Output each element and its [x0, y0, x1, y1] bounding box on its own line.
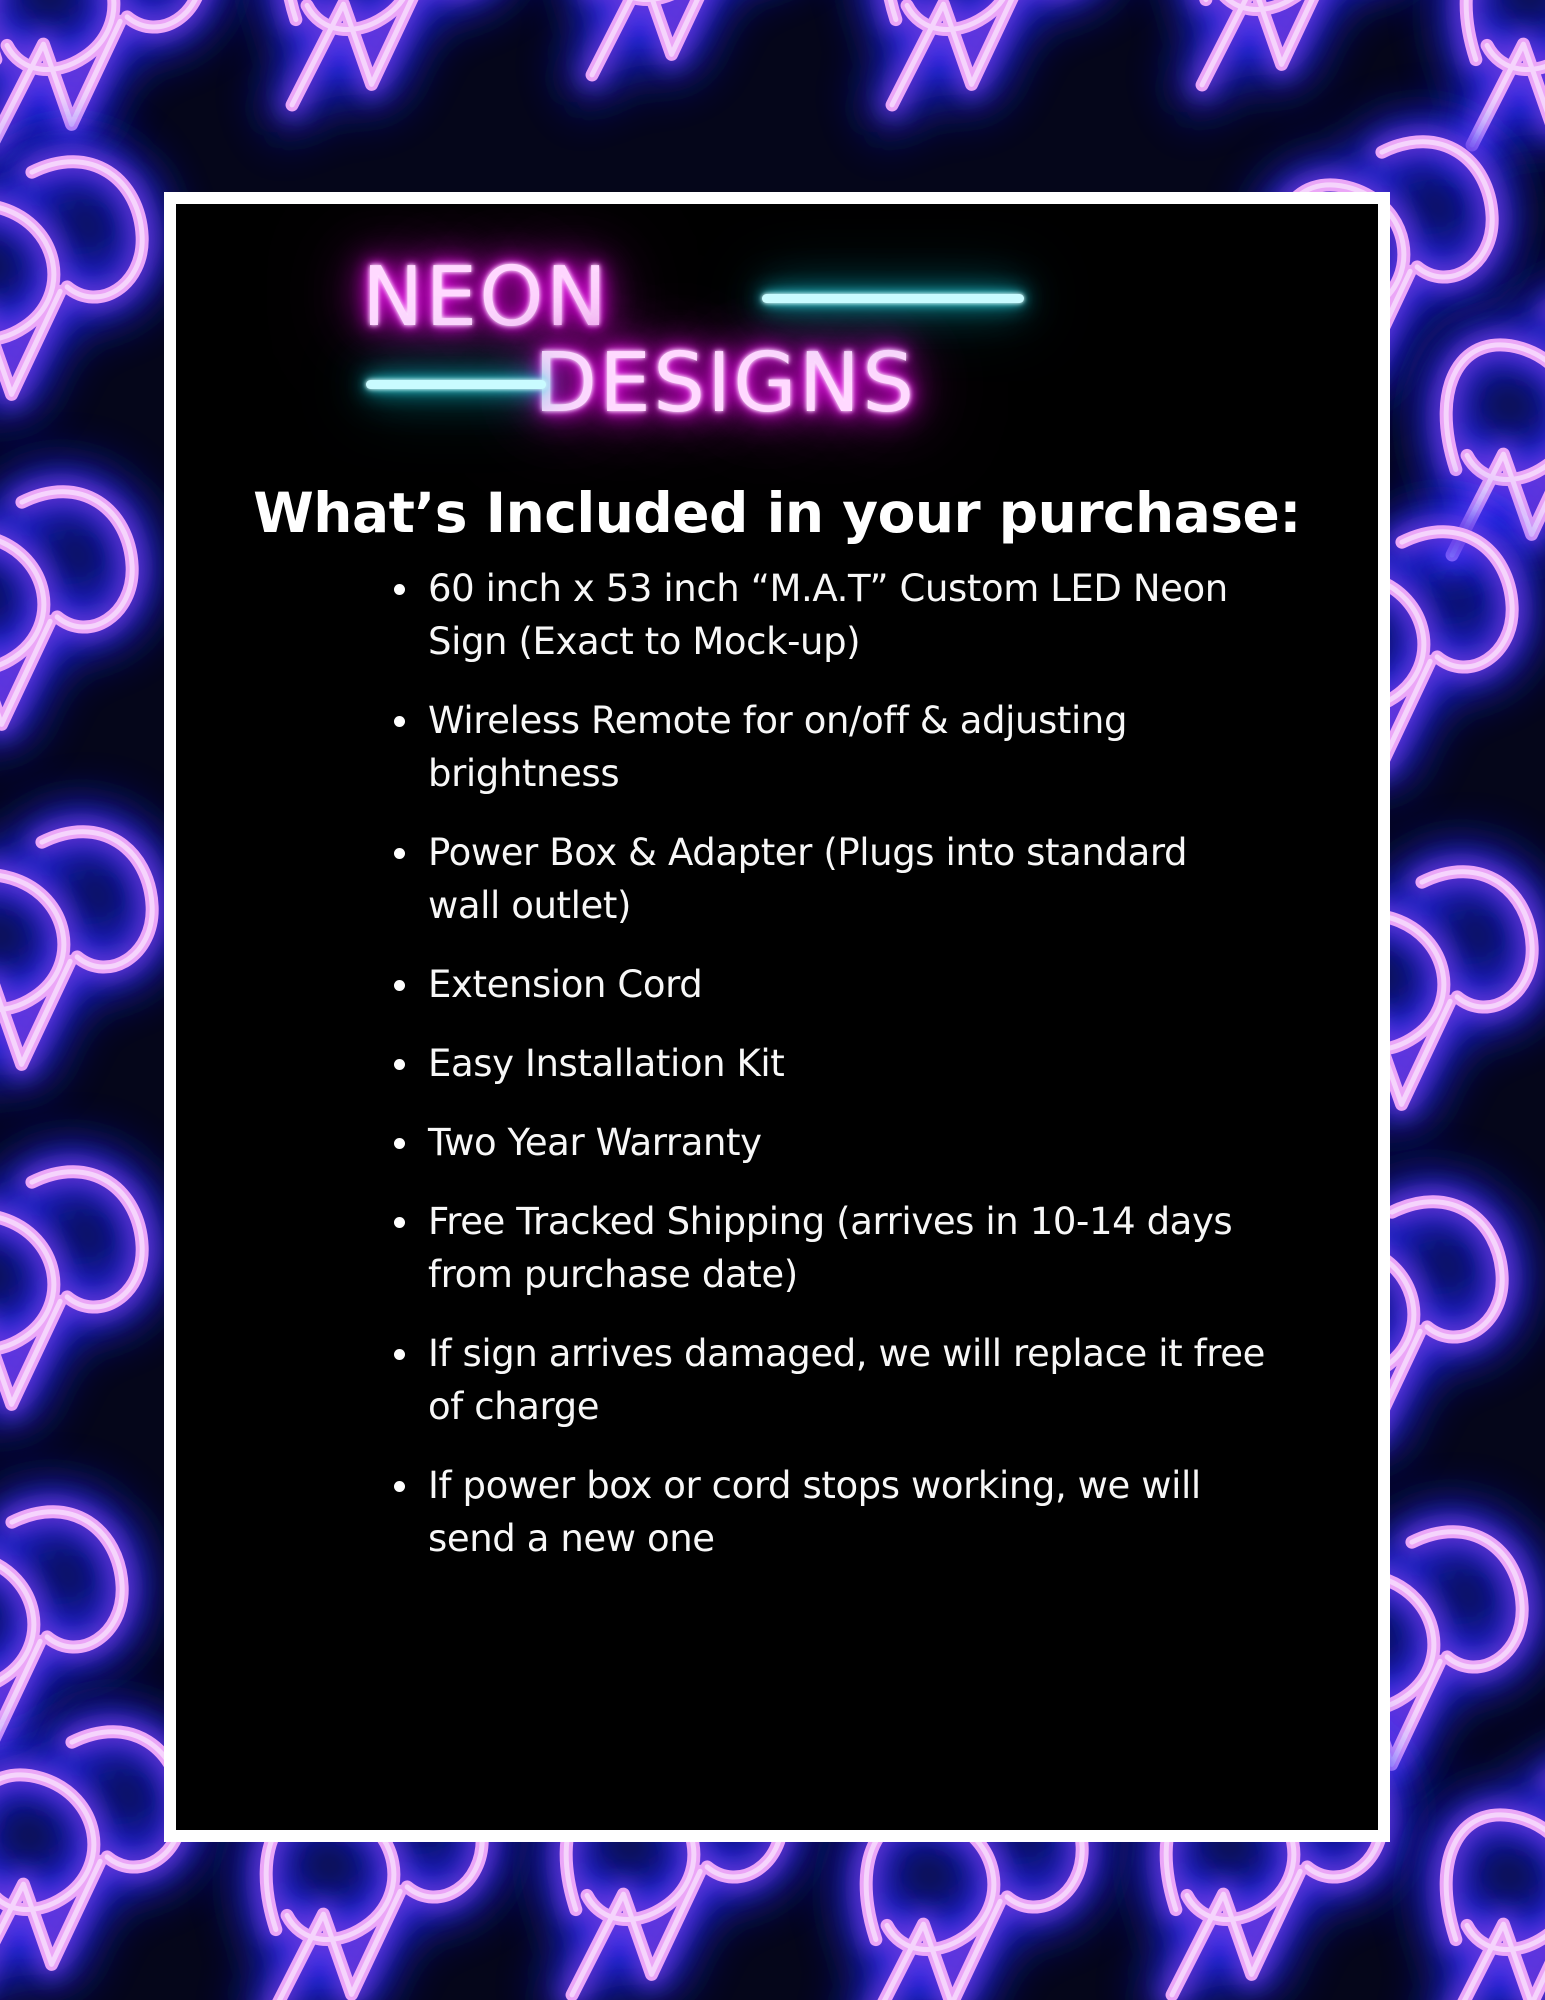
list-item: If power box or cord stops working, we w… — [386, 1459, 1266, 1565]
card-body: NEON DESIGNS What’s Included in your pur… — [176, 204, 1378, 1830]
cyan-bar-bottom-icon — [366, 380, 546, 389]
list-item: Extension Cord — [386, 958, 1266, 1011]
list-item: Power Box & Adapter (Plugs into standard… — [386, 826, 1266, 932]
list-item: Free Tracked Shipping (arrives in 10-14 … — [386, 1195, 1266, 1301]
list-item: If sign arrives damaged, we will replace… — [386, 1327, 1266, 1433]
included-items-list: 60 inch x 53 inch “M.A.T” Custom LED Neo… — [386, 562, 1266, 1591]
list-item: 60 inch x 53 inch “M.A.T” Custom LED Neo… — [386, 562, 1266, 668]
cyan-bar-top-icon — [762, 294, 1024, 303]
logo-neon-text: NEON — [362, 250, 609, 345]
poster-page: NEON DESIGNS What’s Included in your pur… — [0, 0, 1545, 2000]
logo-line-designs: DESIGNS — [176, 338, 1378, 430]
list-item: Easy Installation Kit — [386, 1037, 1266, 1090]
list-item: Wireless Remote for on/off & adjusting b… — [386, 694, 1266, 800]
card-frame: NEON DESIGNS What’s Included in your pur… — [164, 192, 1390, 1842]
list-item: Two Year Warranty — [386, 1116, 1266, 1169]
logo-designs-text: DESIGNS — [534, 336, 916, 431]
neon-designs-logo: NEON DESIGNS — [176, 252, 1378, 462]
page-title: What’s Included in your purchase: — [176, 480, 1378, 546]
